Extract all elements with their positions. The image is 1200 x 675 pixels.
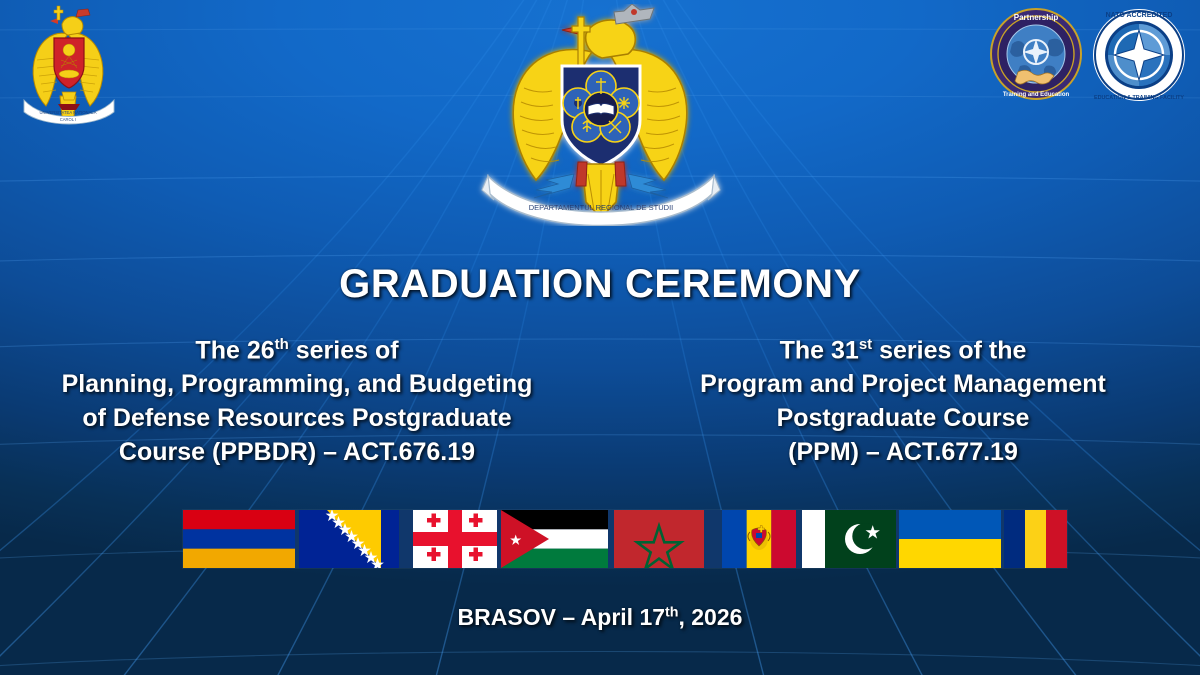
course-right-line-4: (PPM) – ACT.677.19: [606, 435, 1200, 469]
course-left-line-3: of Defense Resources Postgraduate: [0, 401, 594, 435]
national-defence-university-crest-logo: UNIVERSITATEA NATIONALA CAROL I: [18, 4, 118, 126]
flag-gap: [704, 510, 722, 568]
pakistan-flag: [802, 510, 896, 568]
venue-date-post: , 2026: [678, 604, 742, 630]
course-right-line-3: Postgraduate Course: [606, 401, 1200, 435]
morocco-flag: [614, 510, 704, 568]
course-right-line-1: The 31st series of the: [606, 328, 1200, 367]
dresmara-eagle-emblem-logo: DEPARTAMENTUL REGIONAL DE STUDII: [474, 4, 726, 226]
venue-date-ordinal: th: [665, 604, 678, 620]
svg-text:DEPARTAMENTUL REGIONAL DE STUD: DEPARTAMENTUL REGIONAL DE STUDII: [529, 203, 673, 212]
partnership-training-education-centre-logo: Partnership Training and Education: [990, 8, 1082, 100]
presentation-slide: UNIVERSITATEA NATIONALA CAROL I: [0, 0, 1200, 675]
flag-gap: [399, 510, 413, 568]
bosnia-and-herzegovina-flag: [299, 510, 399, 568]
moldova-flag: [722, 510, 796, 568]
svg-text:CAROL I: CAROL I: [60, 117, 77, 122]
georgia-flag: [413, 510, 497, 568]
participating-nations-flag-strip: [183, 510, 1067, 568]
ukraine-flag: [899, 510, 1001, 568]
svg-text:EDUCATION & TRAINING FACILITY: EDUCATION & TRAINING FACILITY: [1094, 95, 1184, 101]
course-block-right: The 31st series of the Program and Proje…: [600, 328, 1200, 469]
course-left-line-4: Course (PPBDR) – ACT.676.19: [0, 435, 594, 469]
course-block-left: The 26th series of Planning, Programming…: [0, 328, 600, 469]
course-left-line-1: The 26th series of: [0, 328, 594, 367]
jordan-flag: [501, 510, 608, 568]
slide-title: GRADUATION CEREMONY: [0, 262, 1200, 307]
svg-text:NATO ACCREDITED: NATO ACCREDITED: [1106, 12, 1173, 19]
course-columns: The 26th series of Planning, Programming…: [0, 328, 1200, 469]
armenia-flag: [183, 510, 295, 568]
svg-text:UNIVERSITATEA NATIONALA: UNIVERSITATEA NATIONALA: [39, 110, 96, 115]
venue-date-pre: BRASOV – April 17: [458, 604, 665, 630]
nato-accredited-facility-logo: NATO ACCREDITED EDUCATION & TRAINING FAC…: [1092, 8, 1186, 102]
venue-and-date: BRASOV – April 17th, 2026: [0, 604, 1200, 631]
course-left-line-2: Planning, Programming, and Budgeting: [0, 367, 594, 401]
svg-text:Training and Education: Training and Education: [1003, 92, 1070, 98]
svg-text:Partnership: Partnership: [1014, 13, 1059, 22]
course-right-line-2: Program and Project Management: [606, 367, 1200, 401]
romania-flag: [1004, 510, 1067, 568]
